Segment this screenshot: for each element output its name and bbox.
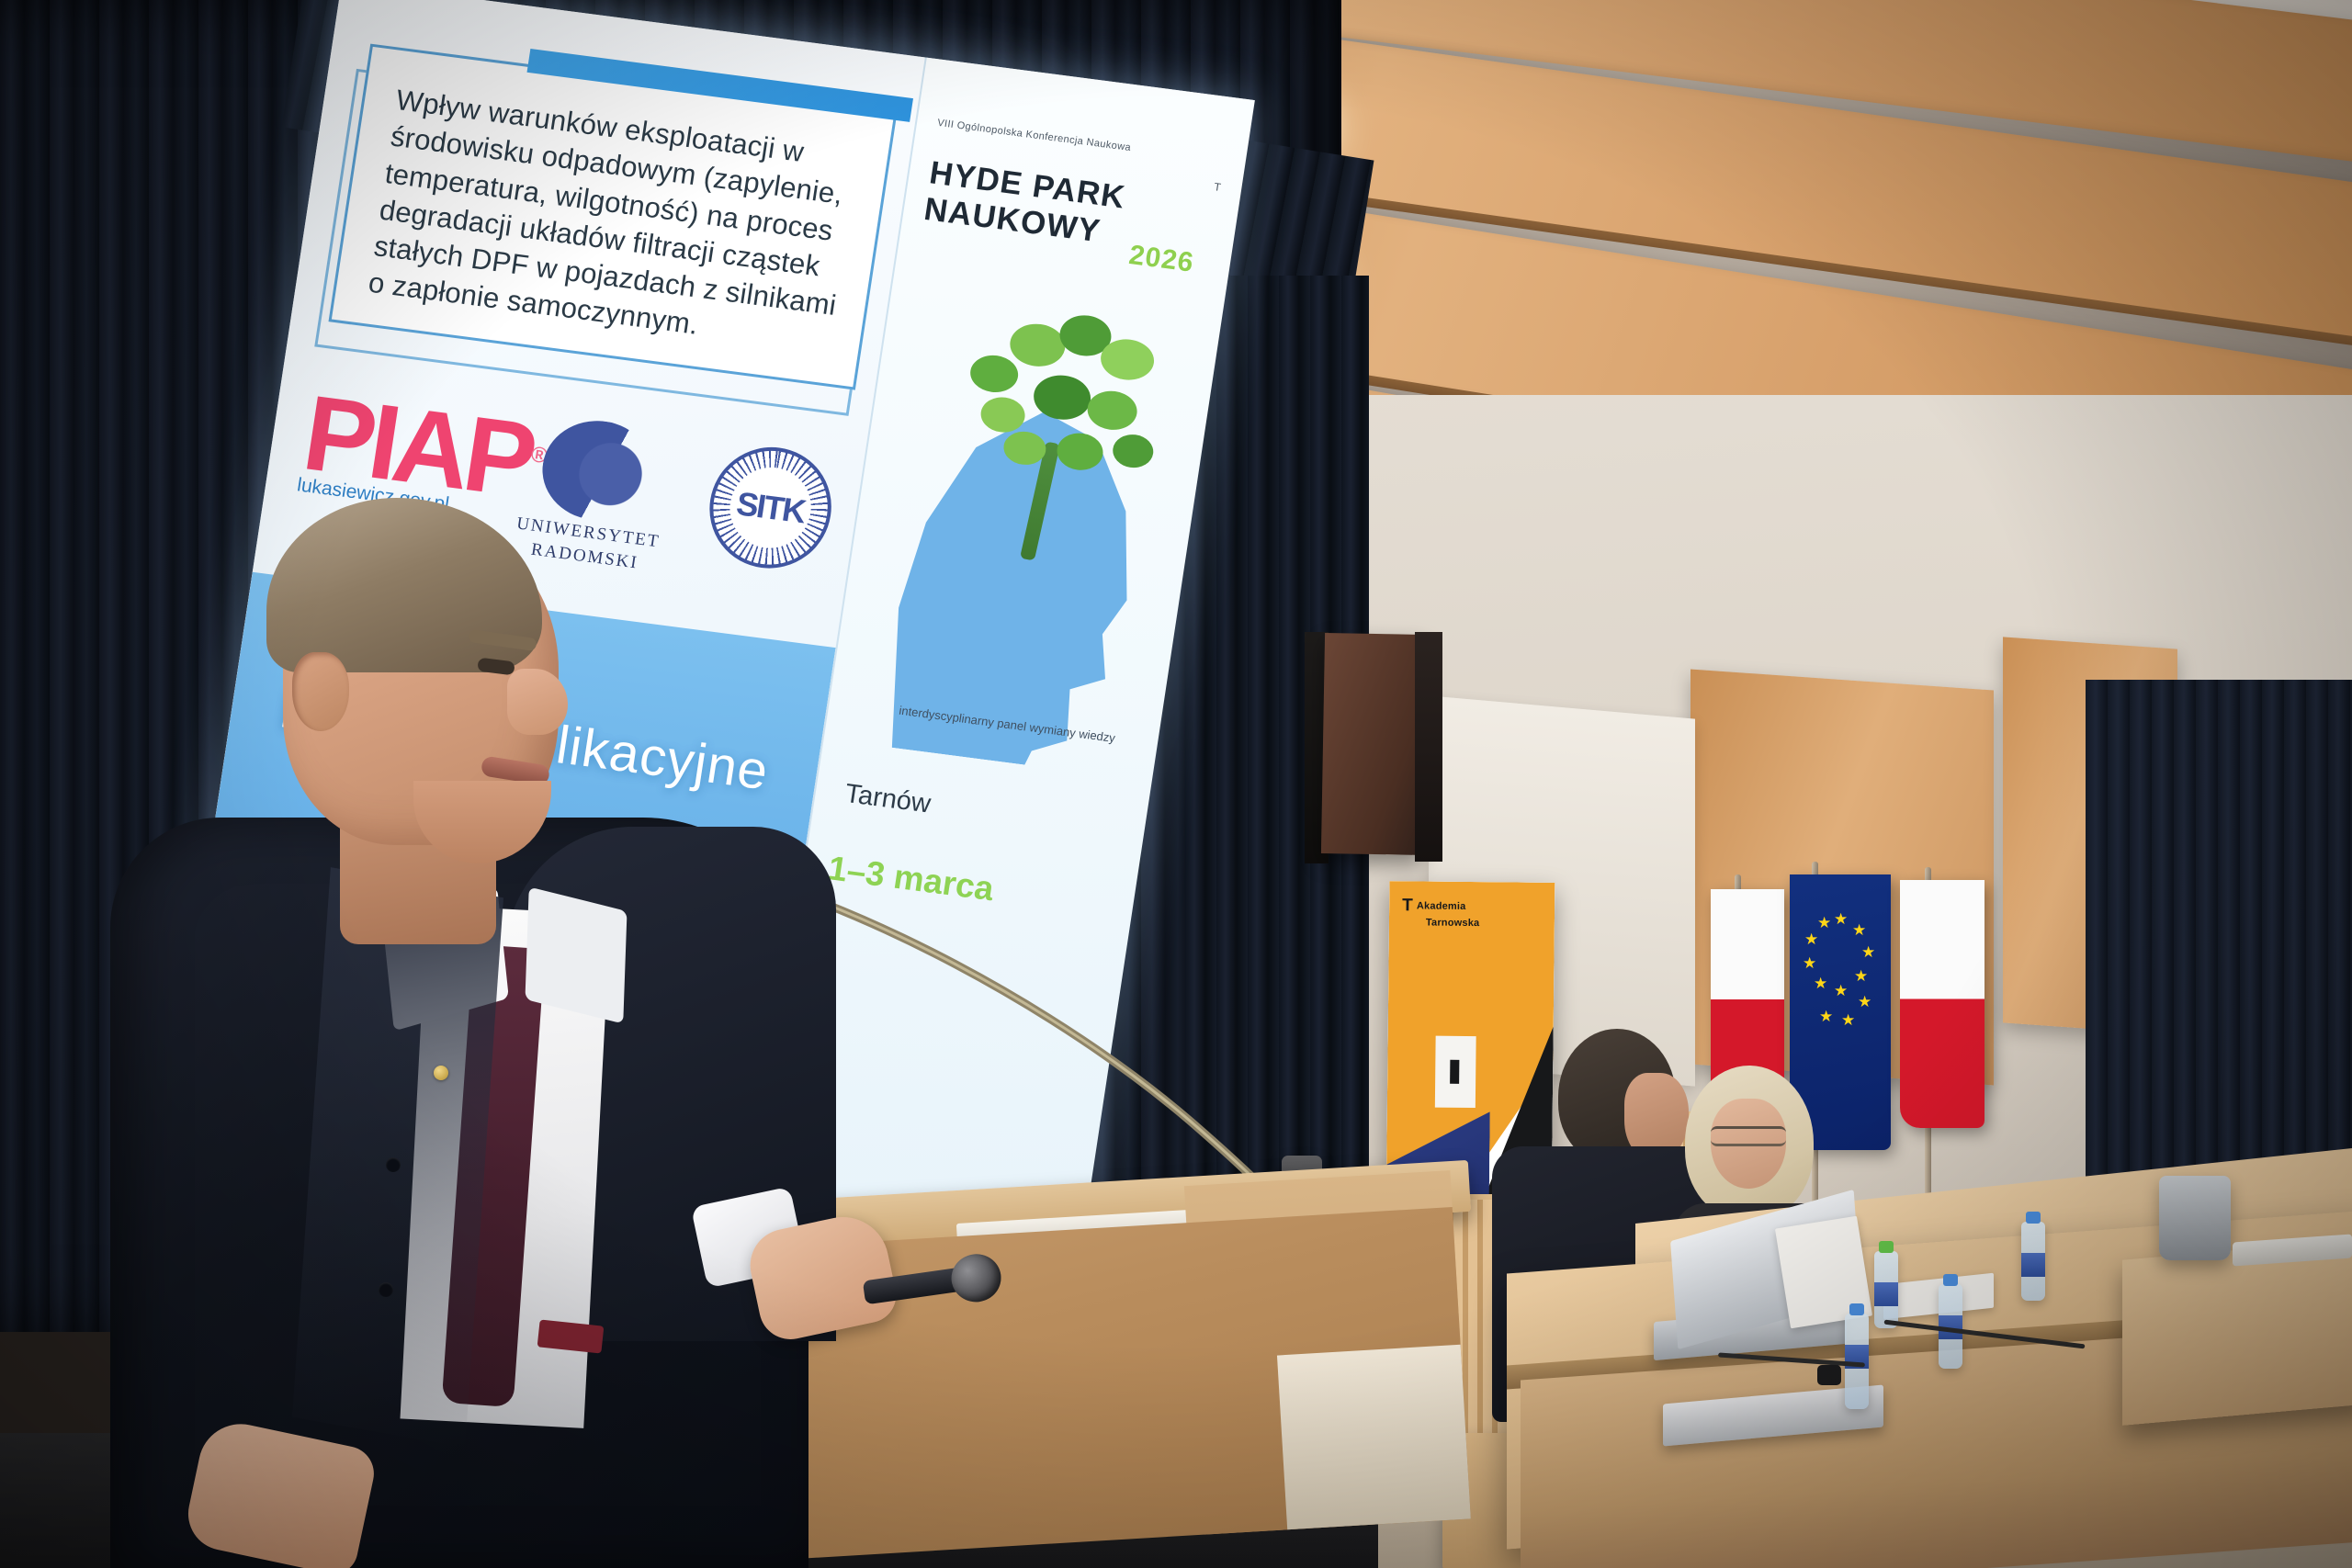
panelist-woman-glasses-icon — [1711, 1126, 1786, 1146]
poland-flag-right — [1900, 880, 1984, 1128]
bottle-cap — [1943, 1274, 1958, 1286]
presenter-nose — [507, 669, 568, 735]
leaf-icon — [1031, 372, 1094, 423]
bottle-label — [1874, 1282, 1898, 1306]
leaf-icon — [978, 395, 1027, 435]
remote-control — [1817, 1365, 1841, 1385]
electric-kettle-icon — [2159, 1176, 2231, 1260]
presenter-collar-right — [525, 886, 627, 1023]
winged-eagle-icon — [536, 414, 660, 526]
wall-speaker-icon — [1321, 633, 1426, 855]
banner-white-box — [1435, 1036, 1476, 1108]
banner-line1: Akademia — [1417, 900, 1466, 912]
side-table — [2122, 1238, 2352, 1426]
leaf-icon — [1007, 321, 1068, 369]
akademia-tarnowska-logo: TAkademia Tarnowska — [1402, 896, 1480, 930]
wall-speaker-side — [1415, 632, 1442, 862]
water-bottle — [2021, 1222, 2045, 1301]
slide-frame-inner: Wpływ warunków eksploatacji w środowisku… — [328, 44, 897, 390]
presenter-jacket-button — [379, 1282, 393, 1297]
leaf-icon — [1085, 389, 1140, 433]
conference-photo-scene: Wpływ warunków eksploatacji w środowisku… — [0, 0, 2352, 1568]
leaf-icon — [1111, 432, 1156, 469]
leaf-icon — [1001, 429, 1048, 468]
slide-frame-outer: Wpływ warunków eksploatacji w środowisku… — [314, 69, 890, 416]
bottle-cap — [2026, 1212, 2041, 1224]
presenter-lapel-pin-icon — [434, 1066, 448, 1080]
bottle-cap — [1879, 1241, 1894, 1253]
water-bottle — [1874, 1251, 1898, 1328]
poster-eyebrow: VIII Ogólnopolska Konferencja Naukowa — [936, 117, 1166, 159]
tree-canopy-icon — [944, 297, 1172, 504]
slide-title: Wpływ warunków eksploatacji w środowisku… — [366, 82, 873, 363]
leaf-icon — [1055, 431, 1106, 473]
presenter-ear — [292, 652, 349, 731]
mic-body — [863, 1267, 967, 1304]
banner-t-mark-icon: T — [1402, 896, 1413, 917]
banner-line2: Tarnowska — [1426, 917, 1480, 930]
lectern-inset-panel — [1277, 1345, 1471, 1530]
presenter-at-lectern — [110, 514, 919, 1568]
leaf-icon — [967, 353, 1021, 395]
bottle-cap — [1849, 1303, 1864, 1315]
bottle-label — [2021, 1253, 2045, 1277]
presenter-jacket-button — [386, 1157, 401, 1172]
